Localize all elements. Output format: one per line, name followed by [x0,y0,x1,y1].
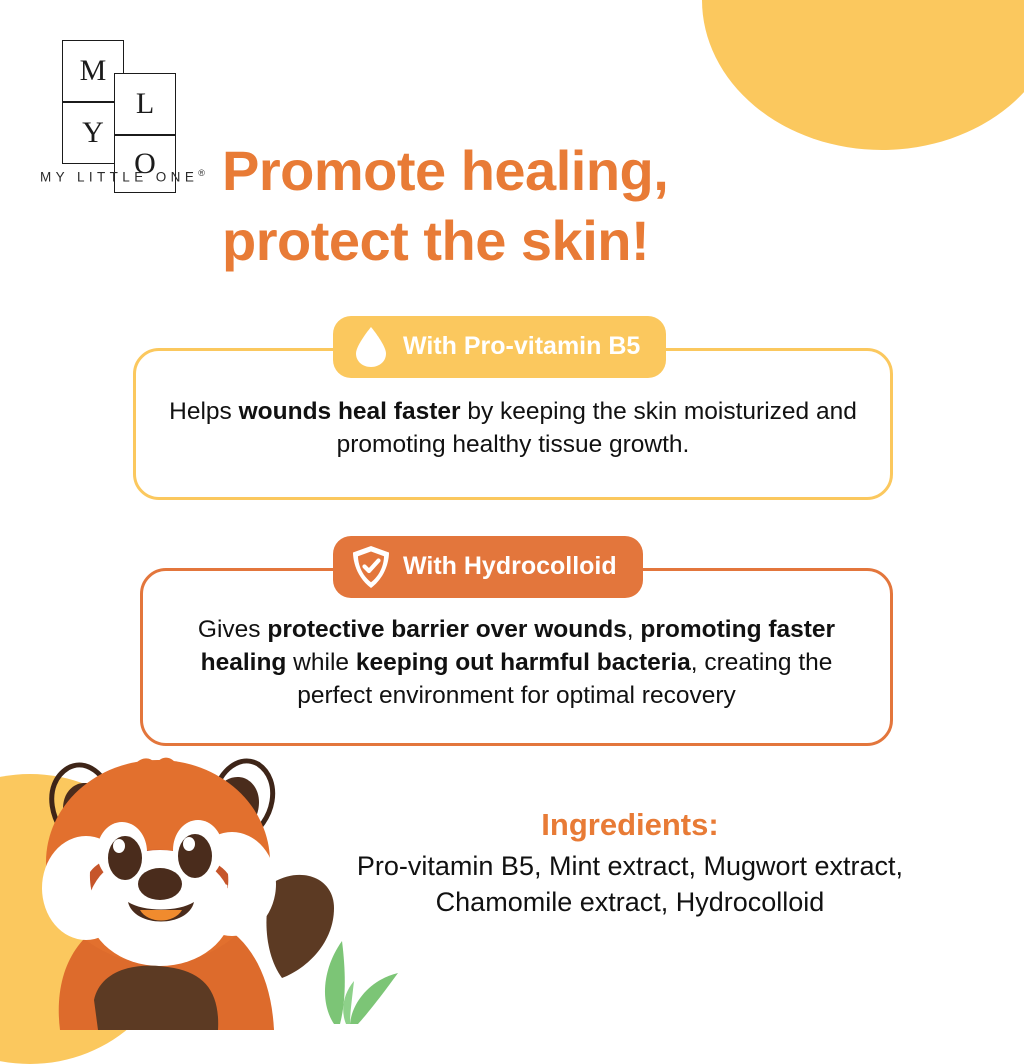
shield-check-icon [349,544,393,590]
body-2-p3: while [286,649,355,676]
logo-wordmark-text: MY LITTLE ONE [40,170,198,185]
badge-hydrocolloid: With Hydrocolloid [333,536,643,598]
body-2-b3: keeping out harmful bacteria [356,649,691,676]
water-droplet-icon [349,324,393,370]
body-1-bold: wounds heal faster [239,398,461,425]
body-2-p2: , [627,616,641,643]
ingredients-section: Ingredients: Pro-vitamin B5, Mint extrac… [330,806,930,921]
ingredients-title: Ingredients: [330,806,930,845]
headline-line-1: Promote healing, [222,139,668,202]
ingredients-list: Pro-vitamin B5, Mint extract, Mugwort ex… [330,849,930,921]
body-2-b1: protective barrier over wounds [267,616,626,643]
registered-trademark-icon: ® [198,168,205,178]
page-title: Promote healing, protect the skin! [222,136,668,276]
badge-1-label: With Pro-vitamin B5 [403,334,640,361]
badge-provitamin-b5: With Pro-vitamin B5 [333,316,666,378]
brand-logo: M Y L O MY LITTLE ONE® [40,40,240,165]
red-panda-mascot [0,730,342,1030]
headline-line-2: protect the skin! [222,206,668,276]
body-1-prefix: Helps [169,398,238,425]
feature-card-1-body: Helps wounds heal faster by keeping the … [136,395,890,461]
body-2-p1: Gives [198,616,267,643]
badge-2-label: With Hydrocolloid [403,554,617,581]
logo-wordmark: MY LITTLE ONE® [40,168,205,185]
logo-box-l: L [114,73,176,135]
logo-letter-boxes: M Y L O [40,40,180,165]
feature-card-2-body: Gives protective barrier over wounds, pr… [143,613,890,712]
yellow-circle-decoration-top-right [702,0,1024,150]
